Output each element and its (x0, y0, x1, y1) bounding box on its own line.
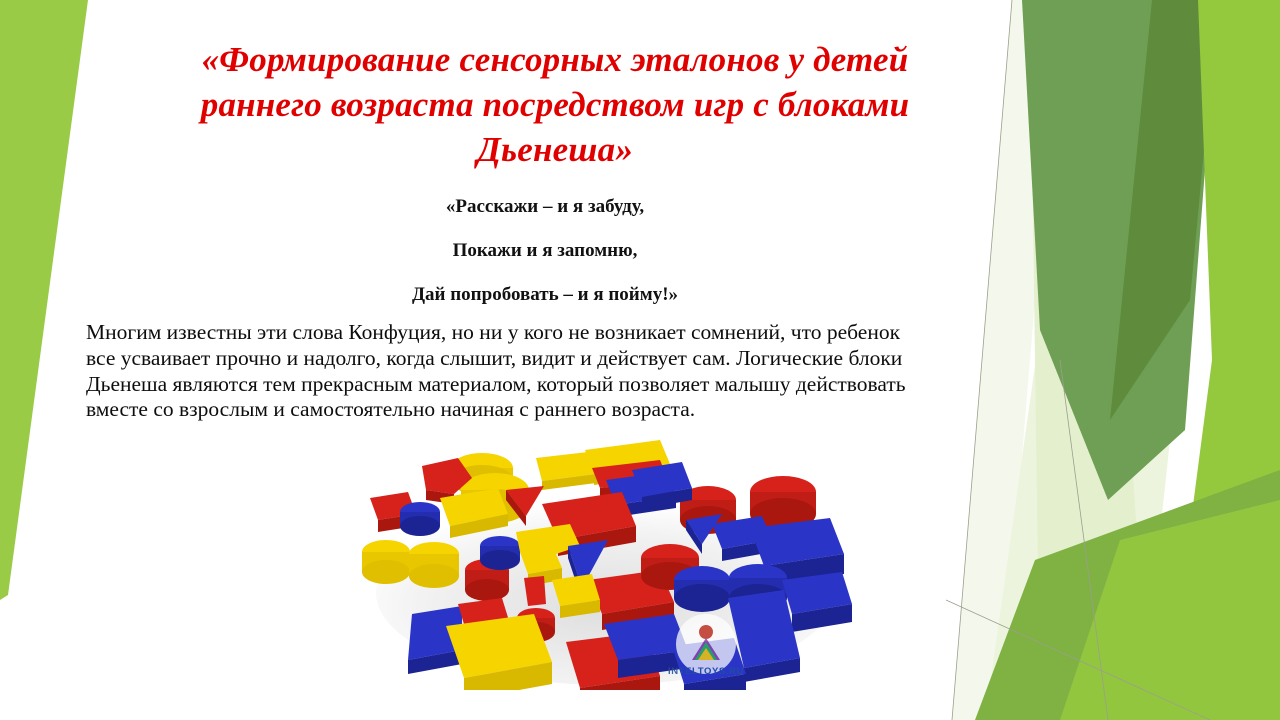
right-pale-sliver (952, 0, 1060, 720)
hairline-upper (952, 0, 1012, 720)
epigraph-line-1: «Расскажи – и я забуду, (150, 196, 940, 218)
slide-title: «Формирование сенсорных эталонов у детей… (160, 38, 950, 172)
title-line-3: Дьенеша» (160, 128, 950, 173)
block-blue-square-right-low (782, 572, 852, 632)
lower-right-green-sweep (975, 470, 1280, 720)
right-bright-green-band (1165, 0, 1280, 720)
epigraph-line-3: Дай попробовать – и я пойму!» (150, 284, 940, 306)
presentation-slide: «Формирование сенсорных эталонов у детей… (0, 0, 1280, 720)
block-blue-cylinder-right-a (674, 566, 730, 612)
epigraph-line-2: Покажи и я запомню, (150, 240, 940, 262)
block-blue-cylinder-left (400, 502, 440, 536)
block-yellow-cylinder-far-left (362, 540, 410, 584)
left-green-wedge (0, 0, 88, 600)
block-blue-cylinder-center (480, 536, 520, 570)
dienes-blocks-photo: INTELTOYS.RU (330, 428, 882, 690)
title-line-1: «Формирование сенсорных эталонов у детей (160, 38, 950, 83)
right-medium-green-panel (1022, 0, 1218, 500)
epigraph-quote: «Расскажи – и я забуду, Покажи и я запом… (150, 196, 940, 306)
right-dark-green-shard (1110, 0, 1218, 420)
hairline-diagonal (946, 600, 1210, 720)
title-line-2: раннего возраста посредством игр с блока… (160, 83, 950, 128)
body-paragraph: Многим известны эти слова Конфуция, но н… (86, 320, 926, 423)
block-yellow-cylinder-left-second (409, 542, 459, 588)
hairline-lower (1060, 360, 1108, 720)
right-pale-wedge-upper (1030, 0, 1150, 720)
right-pale-wedge-lower (985, 300, 1185, 720)
lower-bright-green-overlay (1060, 500, 1280, 720)
watermark-text: INTELTOYS.RU (668, 666, 744, 677)
